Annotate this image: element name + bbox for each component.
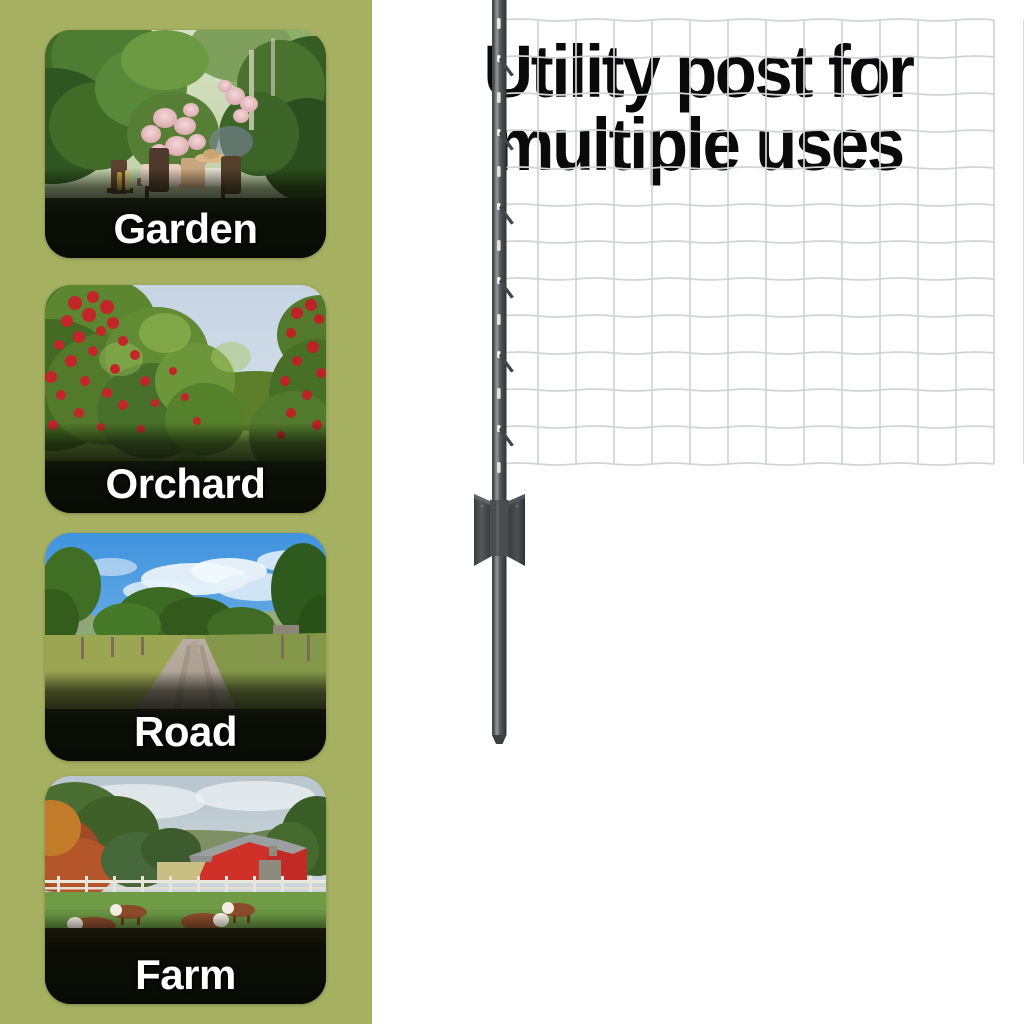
post-notch bbox=[497, 18, 501, 29]
utility-post bbox=[474, 0, 525, 744]
product-image: Garden bbox=[0, 0, 1024, 1024]
use-case-card-garden[interactable]: Garden bbox=[45, 30, 326, 258]
use-case-sidebar: Garden bbox=[0, 0, 372, 1024]
post-notch bbox=[497, 92, 501, 103]
use-case-label-garden: Garden bbox=[45, 208, 326, 250]
use-case-label-farm: Farm bbox=[45, 954, 326, 996]
right-panel: Utility post for multiple uses bbox=[372, 0, 1024, 1024]
post-notch bbox=[497, 240, 501, 251]
wire-mesh-fence bbox=[500, 19, 1024, 465]
use-case-card-farm[interactable]: Farm bbox=[45, 776, 326, 1004]
post-notch bbox=[497, 462, 501, 473]
foot-plate bbox=[474, 494, 525, 566]
product-scene bbox=[372, 0, 1024, 1024]
use-case-card-orchard[interactable]: Orchard bbox=[45, 285, 326, 513]
use-case-label-road: Road bbox=[45, 711, 326, 753]
post-notch bbox=[497, 388, 501, 399]
use-case-label-orchard: Orchard bbox=[45, 463, 326, 505]
post-notch bbox=[497, 166, 501, 177]
post-notch bbox=[497, 314, 501, 325]
use-case-card-road[interactable]: Road bbox=[45, 533, 326, 761]
